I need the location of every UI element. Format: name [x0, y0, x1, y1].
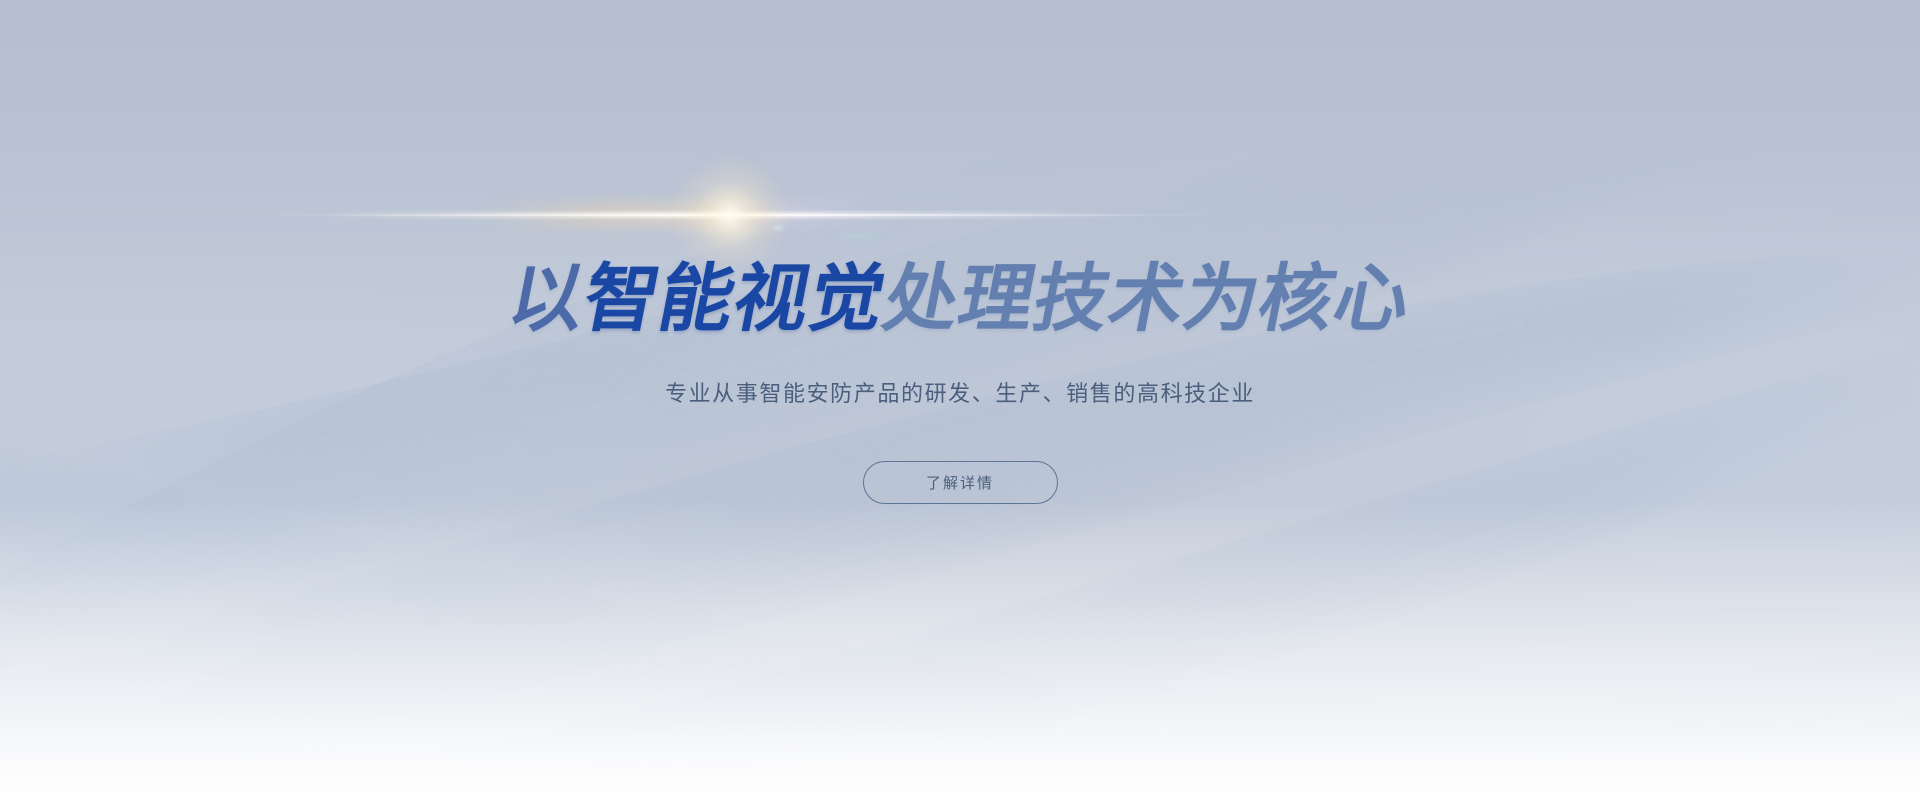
page-subtitle: 专业从事智能安防产品的研发、生产、销售的高科技企业	[665, 376, 1255, 408]
learn-more-button[interactable]: 了解详情	[863, 461, 1058, 504]
hero-banner: 以智能视觉处理技术为核心 专业从事智能安防产品的研发、生产、销售的高科技企业 了…	[0, 0, 1920, 800]
headline-part-tail: 处理技术为核心	[878, 262, 1417, 336]
hero-content: 以智能视觉处理技术为核心 专业从事智能安防产品的研发、生产、销售的高科技企业 了…	[0, 0, 1920, 800]
page-title: 以智能视觉处理技术为核心	[503, 262, 1417, 336]
headline-part-accent: 智能视觉	[578, 262, 892, 336]
